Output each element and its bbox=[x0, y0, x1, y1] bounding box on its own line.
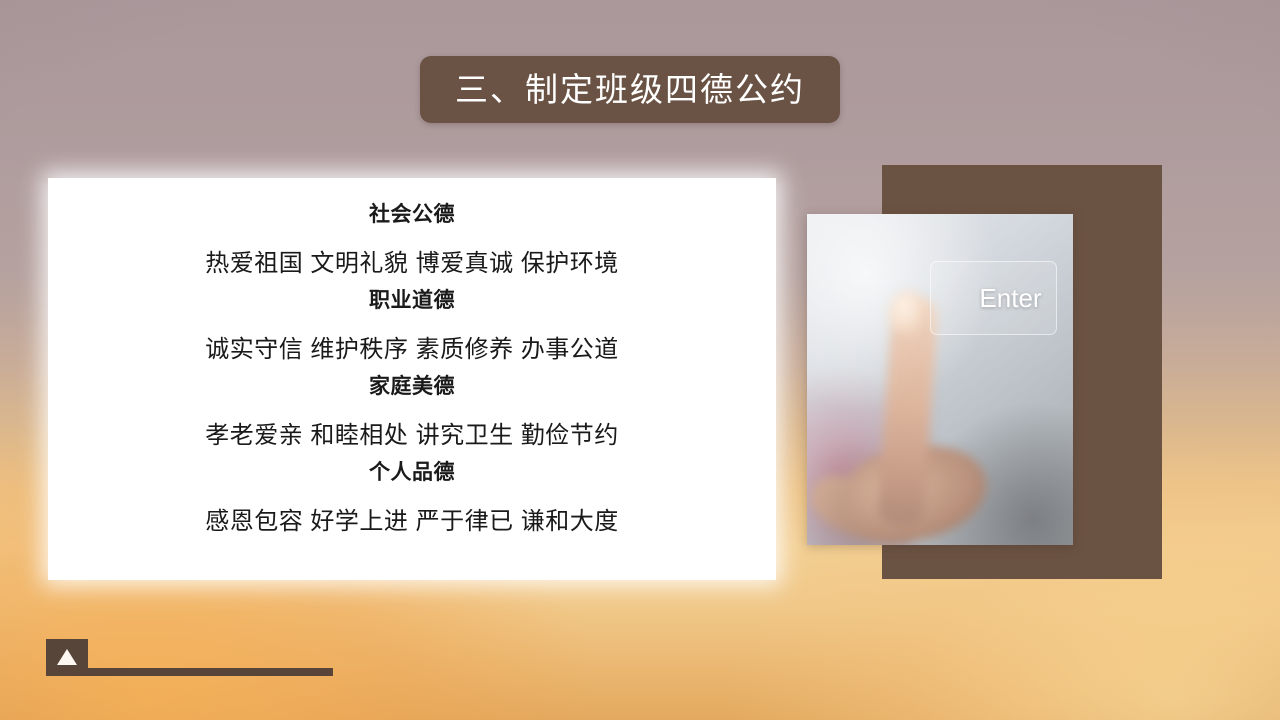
slide-title-bar: 三、制定班级四德公约 bbox=[420, 56, 840, 123]
content-panel-inner: 社会公德 热爱祖国 文明礼貌 博爱真诚 保护环境 职业道德 诚实守信 维护秩序 … bbox=[48, 190, 776, 580]
section-heading: 社会公德 bbox=[48, 204, 776, 225]
section-body: 感恩包容 好学上进 严于律已 谦和大度 bbox=[48, 510, 776, 534]
enter-button-label: Enter bbox=[979, 283, 1041, 314]
touchscreen-photo: Enter bbox=[807, 214, 1073, 545]
footer-accent-bar bbox=[46, 668, 333, 676]
virtue-section-family: 家庭美德 孝老爱亲 和睦相处 讲究卫生 勤俭节约 bbox=[48, 362, 776, 448]
triangle-up-icon bbox=[57, 649, 77, 665]
section-heading: 家庭美德 bbox=[48, 376, 776, 397]
virtue-section-professional: 职业道德 诚实守信 维护秩序 素质修养 办事公道 bbox=[48, 276, 776, 362]
virtue-section-personal: 个人品德 感恩包容 好学上进 严于律已 谦和大度 bbox=[48, 448, 776, 534]
page-title: 三、制定班级四德公约 bbox=[455, 73, 805, 106]
fingertip-shape bbox=[889, 291, 927, 335]
section-body: 孝老爱亲 和睦相处 讲究卫生 勤俭节约 bbox=[48, 424, 776, 448]
section-heading: 职业道德 bbox=[48, 290, 776, 311]
content-panel: 社会公德 热爱祖国 文明礼貌 博爱真诚 保护环境 职业道德 诚实守信 维护秩序 … bbox=[48, 178, 776, 580]
section-body: 诚实守信 维护秩序 素质修养 办事公道 bbox=[48, 338, 776, 362]
slide-canvas: 三、制定班级四德公约 社会公德 热爱祖国 文明礼貌 博爱真诚 保护环境 职业道德… bbox=[0, 0, 1280, 720]
enter-button[interactable]: Enter bbox=[930, 261, 1057, 335]
section-body: 热爱祖国 文明礼貌 博爱真诚 保护环境 bbox=[48, 252, 776, 276]
virtue-section-social: 社会公德 热爱祖国 文明礼貌 博爱真诚 保护环境 bbox=[48, 190, 776, 276]
section-heading: 个人品德 bbox=[48, 462, 776, 483]
